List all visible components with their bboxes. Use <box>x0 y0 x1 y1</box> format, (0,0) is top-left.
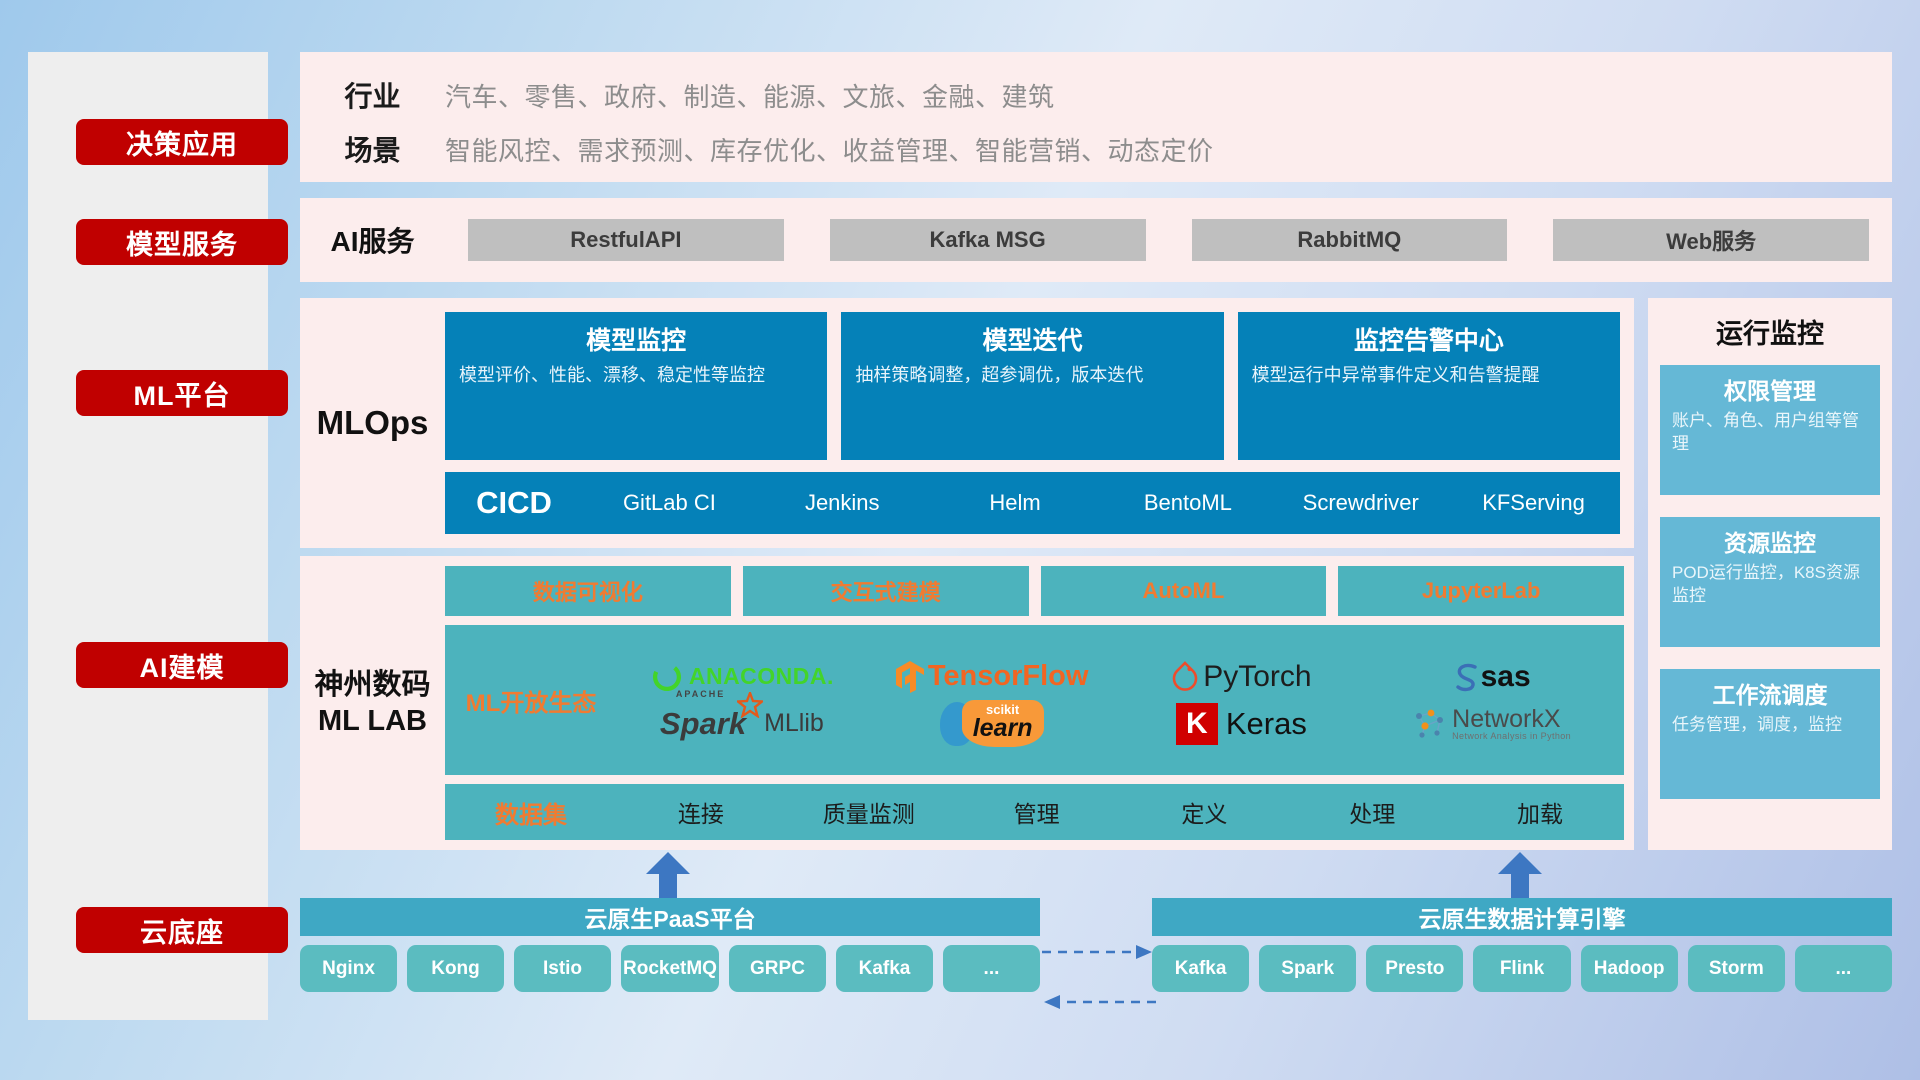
dataset-item-define[interactable]: 定义 <box>1120 795 1288 829</box>
card-desc: 任务管理，调度，监控 <box>1672 714 1868 737</box>
chip-spark[interactable]: Spark <box>1259 945 1356 992</box>
scikit-learn-text: learn <box>973 716 1033 741</box>
anaconda-logo: ANACONDA. <box>617 660 867 694</box>
cicd-item-gitlab-ci[interactable]: GitLab CI <box>583 491 756 514</box>
card-desc: POD运行监控，K8S资源监控 <box>1672 562 1868 607</box>
ml-lab-label-line1: 神州数码 <box>300 667 445 703</box>
card-title: 模型监控 <box>459 321 813 357</box>
mlops-band: MLOps 模型监控 模型评价、性能、漂移、稳定性等监控 模型迭代 抽样策略调整… <box>300 298 1634 548</box>
dataset-item-connect[interactable]: 连接 <box>617 795 785 829</box>
cloud-paas-title: 云原生PaaS平台 <box>300 898 1040 936</box>
cicd-item-kfserving[interactable]: KFServing <box>1447 491 1620 514</box>
spark-apache-text: APACHE <box>676 689 725 699</box>
card-title: 资源监控 <box>1672 524 1868 558</box>
mlops-label: MLOps <box>300 404 445 442</box>
chip-more[interactable]: ... <box>943 945 1040 992</box>
chip-kong[interactable]: Kong <box>407 945 504 992</box>
tool-data-visualization[interactable]: 数据可视化 <box>445 566 731 616</box>
cicd-item-bentoml[interactable]: BentoML <box>1101 491 1274 514</box>
networkx-logo: NetworkX Network Analysis in Python <box>1366 707 1616 741</box>
rail-item-model-service[interactable]: 模型服务 <box>76 219 288 265</box>
keras-mark: K <box>1176 703 1218 745</box>
bidirectional-dashed-arrows <box>1040 940 1158 1018</box>
mlops-card-model-monitoring[interactable]: 模型监控 模型评价、性能、漂移、稳定性等监控 <box>445 312 827 460</box>
chip-hadoop[interactable]: Hadoop <box>1581 945 1678 992</box>
scikit-orange-blob: scikit learn <box>962 700 1044 747</box>
pytorch-wordmark: PyTorch <box>1203 660 1311 694</box>
card-desc: 账户、角色、用户组等管理 <box>1672 410 1868 455</box>
service-button-kafka-msg[interactable]: Kafka MSG <box>830 219 1146 261</box>
chip-presto[interactable]: Presto <box>1366 945 1463 992</box>
pytorch-mark <box>1171 661 1199 693</box>
tensorflow-logo: TensorFlow <box>867 660 1117 694</box>
ml-lab-label-line2: ML LAB <box>300 703 445 739</box>
upward-arrow-right <box>1496 852 1544 902</box>
rail-item-cloud-base[interactable]: 云底座 <box>76 907 288 953</box>
cloud-paas-section: 云原生PaaS平台 Nginx Kong Istio RocketMQ GRPC… <box>300 898 1040 992</box>
cicd-bar: CICD GitLab CI Jenkins Helm BentoML Scre… <box>445 472 1620 534</box>
cicd-item-helm[interactable]: Helm <box>929 491 1102 514</box>
spark-star-icon <box>737 692 763 718</box>
mlops-card-model-iteration[interactable]: 模型迭代 抽样策略调整，超参调优，版本迭代 <box>841 312 1223 460</box>
cloud-data-engine-section: 云原生数据计算引擎 Kafka Spark Presto Flink Hadoo… <box>1152 898 1892 992</box>
rail-item-ml-platform[interactable]: ML平台 <box>76 370 288 416</box>
chip-grpc[interactable]: GRPC <box>729 945 826 992</box>
industry-label: 行业 <box>300 75 445 115</box>
card-title: 权限管理 <box>1672 372 1868 406</box>
lab-tools-row: 数据可视化 交互式建模 AutoML JupyterLab <box>445 566 1624 616</box>
ml-lab-label: 神州数码 ML LAB <box>300 667 445 740</box>
scenario-row: 场景 智能风控、需求预测、库存优化、收益管理、智能营销、动态定价 <box>300 124 1892 174</box>
chip-more[interactable]: ... <box>1795 945 1892 992</box>
cloud-data-engine-chips: Kafka Spark Presto Flink Hadoop Storm ..… <box>1152 945 1892 992</box>
service-button-web[interactable]: Web服务 <box>1553 219 1869 261</box>
card-desc: 抽样策略调整，超参调优，版本迭代 <box>855 364 1209 388</box>
chip-rocketmq[interactable]: RocketMQ <box>621 945 719 992</box>
decision-app-band: 行业 汽车、零售、政府、制造、能源、文旅、金融、建筑 场景 智能风控、需求预测、… <box>300 52 1892 182</box>
tool-jupyterlab[interactable]: JupyterLab <box>1338 566 1624 616</box>
cicd-item-jenkins[interactable]: Jenkins <box>756 491 929 514</box>
dataset-label: 数据集 <box>445 795 617 830</box>
dataset-band: 数据集 连接 质量监测 管理 定义 处理 加载 <box>445 784 1624 840</box>
chip-storm[interactable]: Storm <box>1688 945 1785 992</box>
card-desc: 模型运行中异常事件定义和告警提醒 <box>1252 364 1606 388</box>
card-title: 模型迭代 <box>855 321 1209 357</box>
ai-service-band: AI服务 RestfulAPI Kafka MSG RabbitMQ Web服务 <box>300 198 1892 282</box>
dataset-item-quality[interactable]: 质量监测 <box>785 795 953 829</box>
sas-wordmark: sas <box>1481 660 1531 694</box>
scenario-label: 场景 <box>300 129 445 169</box>
chip-istio[interactable]: Istio <box>514 945 611 992</box>
ml-ecosystem-label: ML开放生态 <box>445 683 617 718</box>
chip-flink[interactable]: Flink <box>1473 945 1570 992</box>
cicd-item-screwdriver[interactable]: Screwdriver <box>1274 491 1447 514</box>
service-button-restfulapi[interactable]: RestfulAPI <box>468 219 784 261</box>
monitor-card-workflow[interactable]: 工作流调度 任务管理，调度，监控 <box>1660 669 1880 799</box>
sas-mark <box>1452 661 1482 693</box>
runtime-monitor-title: 运行监控 <box>1660 312 1880 351</box>
anaconda-wordmark: ANACONDA. <box>689 663 834 690</box>
layer-rail: 决策应用 模型服务 ML平台 AI建模 云底座 <box>28 52 268 1020</box>
card-title: 工作流调度 <box>1672 676 1868 710</box>
ml-lab-band: 神州数码 ML LAB 数据可视化 交互式建模 AutoML JupyterLa… <box>300 556 1634 850</box>
runtime-monitor-panel: 运行监控 权限管理 账户、角色、用户组等管理 资源监控 POD运行监控，K8S资… <box>1648 298 1892 850</box>
card-title: 监控告警中心 <box>1252 321 1606 357</box>
chip-kafka[interactable]: Kafka <box>836 945 933 992</box>
upward-arrow-left <box>644 852 692 902</box>
monitor-card-resource[interactable]: 资源监控 POD运行监控，K8S资源监控 <box>1660 517 1880 647</box>
dataset-item-load[interactable]: 加载 <box>1456 795 1624 829</box>
cloud-paas-chips: Nginx Kong Istio RocketMQ GRPC Kafka ... <box>300 945 1040 992</box>
spark-wordmark: Spark <box>660 706 746 741</box>
architecture-diagram: 决策应用 模型服务 ML平台 AI建模 云底座 行业 汽车、零售、政府、制造、能… <box>0 0 1920 1080</box>
networkx-tagline: Network Analysis in Python <box>1452 732 1571 741</box>
industry-row: 行业 汽车、零售、政府、制造、能源、文旅、金融、建筑 <box>300 70 1892 120</box>
dataset-item-process[interactable]: 处理 <box>1288 795 1456 829</box>
pytorch-logo: PyTorch <box>1117 660 1367 694</box>
mllib-wordmark: MLlib <box>764 709 824 738</box>
tool-interactive-modeling[interactable]: 交互式建模 <box>743 566 1029 616</box>
mlops-card-alert-center[interactable]: 监控告警中心 模型运行中异常事件定义和告警提醒 <box>1238 312 1620 460</box>
dataset-item-manage[interactable]: 管理 <box>953 795 1121 829</box>
keras-logo: K Keras <box>1117 703 1367 745</box>
cicd-label: CICD <box>445 485 583 521</box>
tensorflow-mark <box>895 660 925 694</box>
chip-nginx[interactable]: Nginx <box>300 945 397 992</box>
tool-automl[interactable]: AutoML <box>1041 566 1327 616</box>
card-desc: 模型评价、性能、漂移、稳定性等监控 <box>459 364 813 388</box>
tensorflow-wordmark: TensorFlow <box>928 660 1089 693</box>
ml-ecosystem-band: ML开放生态 ANACONDA. <box>445 625 1624 775</box>
keras-wordmark: Keras <box>1226 706 1307 742</box>
ai-service-label: AI服务 <box>300 220 445 260</box>
chip-kafka[interactable]: Kafka <box>1152 945 1249 992</box>
scikit-learn-logo: scikit learn <box>867 700 1117 747</box>
service-button-rabbitmq[interactable]: RabbitMQ <box>1192 219 1508 261</box>
networkx-mark <box>1411 707 1449 741</box>
scenario-value: 智能风控、需求预测、库存优化、收益管理、智能营销、动态定价 <box>445 131 1214 168</box>
spark-mllib-logo: APACHE Spark MLlib <box>617 706 867 742</box>
networkx-wordmark: NetworkX <box>1452 707 1571 732</box>
keras-k-letter: K <box>1186 707 1208 741</box>
monitor-card-permission[interactable]: 权限管理 账户、角色、用户组等管理 <box>1660 365 1880 495</box>
cloud-data-engine-title: 云原生数据计算引擎 <box>1152 898 1892 936</box>
rail-item-ai-modeling[interactable]: AI建模 <box>76 642 288 688</box>
industry-value: 汽车、零售、政府、制造、能源、文旅、金融、建筑 <box>445 77 1055 114</box>
rail-item-decision-app[interactable]: 决策应用 <box>76 119 288 165</box>
sas-logo: sas <box>1366 660 1616 694</box>
